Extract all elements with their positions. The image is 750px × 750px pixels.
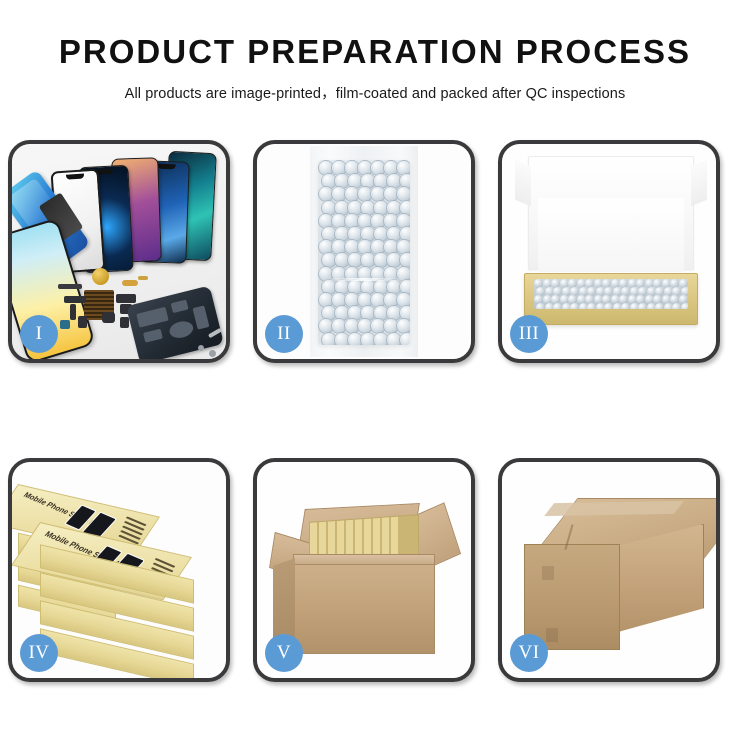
- speaker-module-part: [92, 268, 109, 285]
- bubble-icon: [399, 332, 410, 345]
- carton-tape-strip: [544, 501, 684, 516]
- phone-notch-icon: [157, 164, 175, 170]
- phone-notch-icon: [66, 174, 84, 180]
- bubble-icon: [621, 303, 630, 309]
- step-panel-2: II: [253, 140, 475, 363]
- camera-flex-part: [116, 294, 136, 303]
- step-badge-6: VI: [510, 634, 548, 672]
- sensor-part: [120, 317, 129, 328]
- header: PRODUCT PREPARATION PROCESS All products…: [0, 0, 750, 103]
- kraft-inner-tray: [524, 273, 698, 325]
- loudspeaker-part: [102, 312, 115, 323]
- step-panel-5: V: [253, 458, 475, 682]
- screw-part: [198, 345, 204, 351]
- small-flex-part: [64, 296, 86, 303]
- carton-body: [293, 564, 435, 654]
- button-contact-part: [138, 276, 148, 280]
- step-panel-1: I: [8, 140, 230, 363]
- carton-notch: [546, 628, 558, 642]
- volume-flex-part: [122, 280, 138, 286]
- step-badge-1: I: [20, 315, 58, 353]
- foam-insert: [538, 198, 684, 272]
- charging-port-part: [60, 320, 70, 329]
- bubble-wrapped-screen: [318, 160, 410, 345]
- process-steps-grid: I II III: [8, 140, 742, 682]
- bubble-icon: [604, 303, 613, 309]
- carton-notch: [542, 566, 554, 580]
- bubble-icon: [638, 303, 647, 309]
- screw-part: [209, 350, 216, 357]
- page-subtitle: All products are image-printed，film-coat…: [0, 82, 750, 103]
- product-preparation-infographic: PRODUCT PREPARATION PROCESS All products…: [0, 0, 750, 750]
- vibrator-part: [70, 304, 76, 320]
- bubble-icon: [553, 303, 562, 309]
- bubble-icon: [655, 303, 664, 309]
- page-title: PRODUCT PREPARATION PROCESS: [0, 34, 750, 70]
- bubble-wrap-seam: [322, 278, 406, 281]
- bubble-icon: [536, 303, 545, 309]
- step-panel-6: VI: [498, 458, 720, 682]
- sealed-carton-front: [524, 544, 620, 650]
- bubble-icon: [587, 303, 596, 309]
- bubble-icon: [681, 303, 689, 309]
- step-badge-3: III: [510, 315, 548, 353]
- step-panel-4: Mobile Phone Spare Parts Mobile Phone Sp…: [8, 458, 230, 682]
- tray-bubble-wrap: [534, 279, 688, 309]
- bubble-icon: [570, 303, 579, 309]
- sim-tray-part: [78, 316, 87, 328]
- logic-board-part: [126, 285, 224, 359]
- step-panel-3: III: [498, 140, 720, 363]
- step-badge-2: II: [265, 315, 303, 353]
- bubble-wrap-texture: [318, 160, 410, 345]
- step-badge-4: IV: [20, 634, 58, 672]
- bubble-icon: [672, 303, 681, 309]
- step-badge-5: V: [265, 634, 303, 672]
- earpiece-mesh-part: [58, 284, 82, 289]
